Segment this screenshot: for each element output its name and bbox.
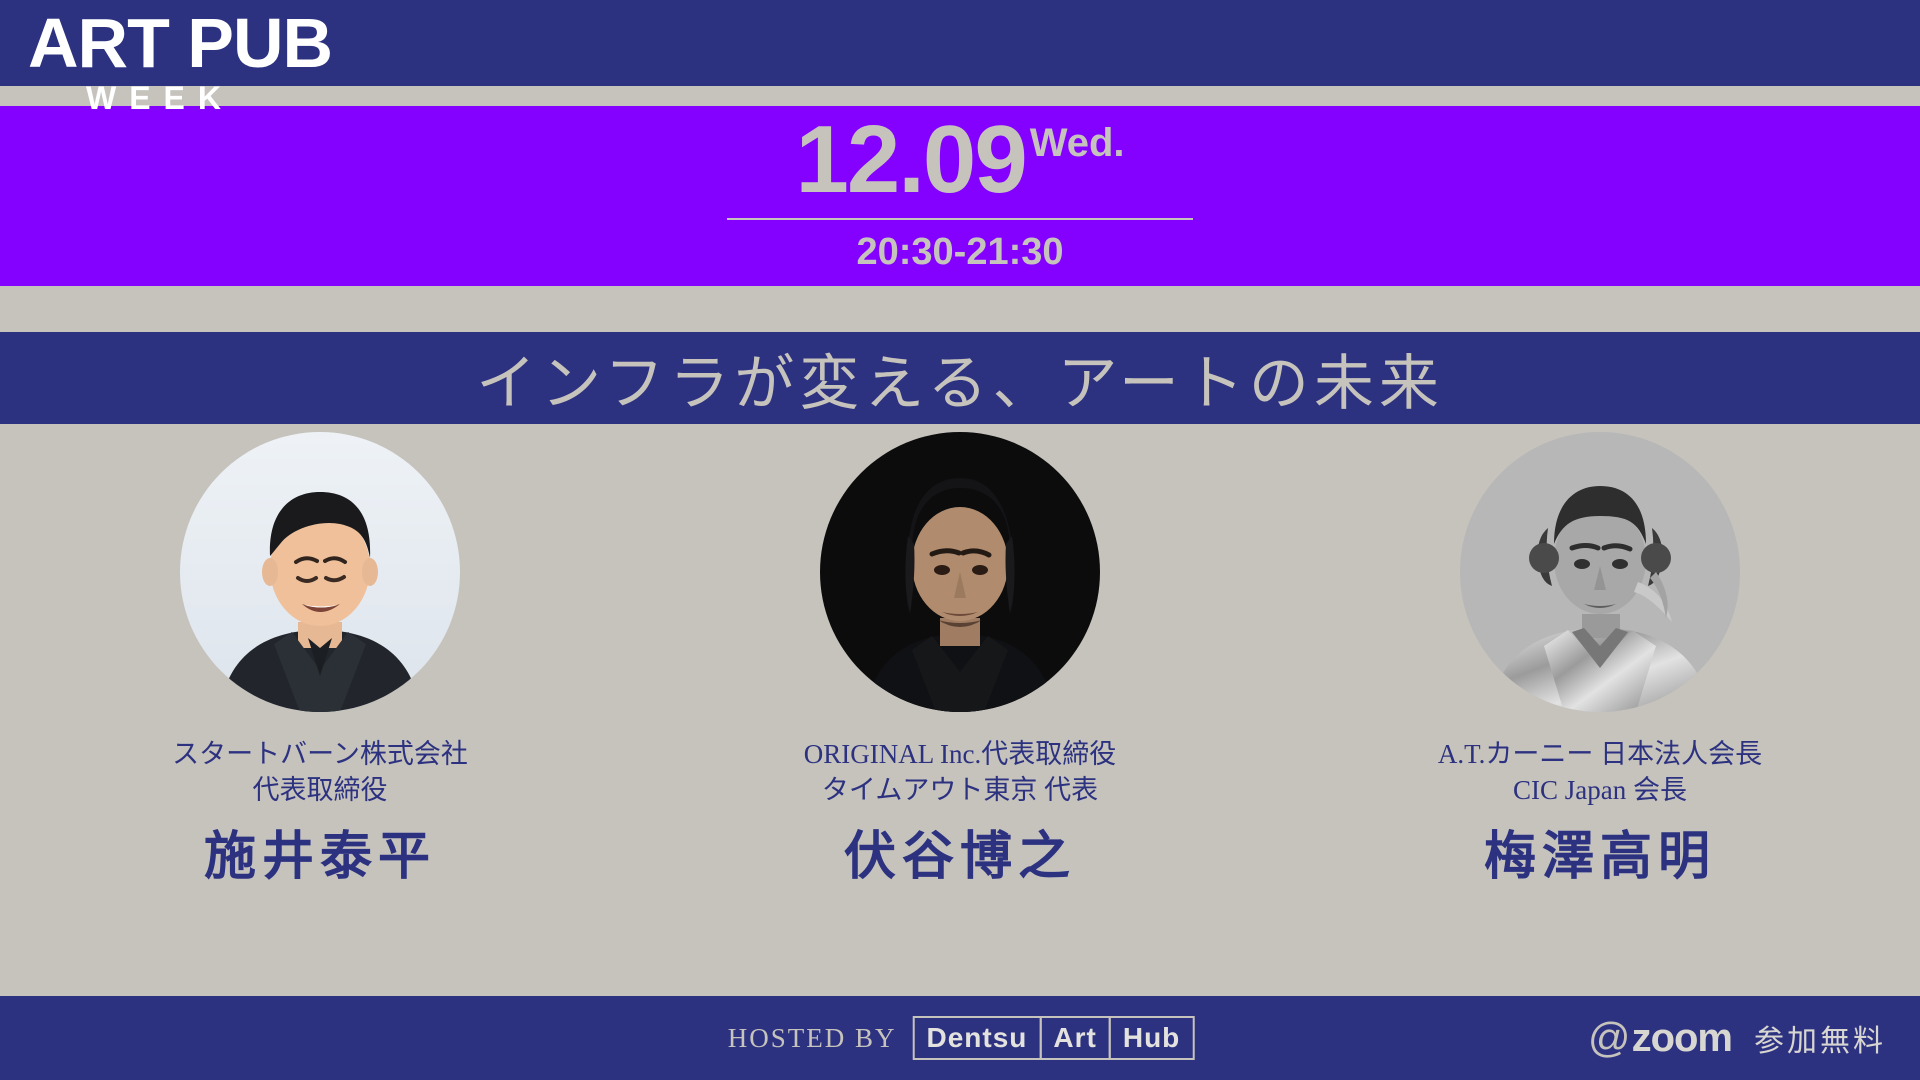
speaker-card: A.T.カーニー 日本法人会長 CIC Japan 会長 梅澤高明: [1280, 432, 1920, 992]
footer: HOSTED BY Dentsu Art Hub @ zoom 参加無料: [0, 996, 1920, 1080]
speaker-role-line2: 代表取締役: [172, 772, 468, 808]
logo-title-line: ART PUB: [28, 6, 358, 80]
free-admission-label: 参加無料: [1754, 1016, 1886, 1060]
host-logo-art: Art: [1039, 1016, 1110, 1060]
art-pub-week-logo: ART PUB WEEK: [28, 6, 358, 116]
speaker-name: 伏谷博之: [844, 828, 1076, 888]
speaker-role-line1: ORIGINAL Inc.代表取締役: [804, 736, 1116, 772]
event-date: 12.09: [795, 112, 1025, 208]
host-logo-boxes: Dentsu Art Hub: [912, 1016, 1192, 1060]
speaker-role: スタートバーン株式会社 代表取締役: [172, 736, 468, 808]
speaker-photo-umezawa-takaaki: [1460, 432, 1740, 712]
hosted-by-group: HOSTED BY Dentsu Art Hub: [728, 1016, 1193, 1060]
logo-subtitle-line: WEEK: [28, 80, 358, 116]
speaker-card: スタートバーン株式会社 代表取締役 施井泰平: [0, 432, 640, 992]
session-title: インフラが変える、アートの未来: [0, 332, 1920, 424]
speaker-card: ORIGINAL Inc.代表取締役 タイムアウト東京 代表 伏谷博之: [640, 432, 1280, 992]
speaker-role-line2: CIC Japan 会長: [1438, 772, 1762, 808]
date-divider-rule: [727, 218, 1193, 220]
speaker-role: A.T.カーニー 日本法人会長 CIC Japan 会長: [1438, 736, 1762, 808]
date-row: 12.09 Wed.: [795, 112, 1124, 208]
host-logo-hub: Hub: [1109, 1016, 1194, 1060]
event-poster: ART PUB WEEK 12.09 Wed. 20:30-21:30 インフラ…: [0, 0, 1920, 1080]
speaker-name: 施井泰平: [204, 828, 436, 888]
event-day-of-week: Wed.: [1030, 123, 1125, 163]
speaker-role-line1: スタートバーン株式会社: [172, 736, 468, 772]
hosted-by-label: HOSTED BY: [728, 1023, 897, 1054]
speakers-row: スタートバーン株式会社 代表取締役 施井泰平: [0, 432, 1920, 992]
speaker-role: ORIGINAL Inc.代表取締役 タイムアウト東京 代表: [804, 736, 1116, 808]
speaker-photo-fushitani-hiroyuki: [820, 432, 1100, 712]
event-time: 20:30-21:30: [856, 230, 1063, 274]
speaker-name: 梅澤高明: [1484, 828, 1716, 888]
speaker-photo-shiii-taihei: [180, 432, 460, 712]
speaker-role-line2: タイムアウト東京 代表: [804, 772, 1116, 808]
at-sign-icon: @: [1588, 1017, 1631, 1059]
speaker-role-line1: A.T.カーニー 日本法人会長: [1438, 736, 1762, 772]
event-date-block: 12.09 Wed. 20:30-21:30: [0, 106, 1920, 286]
zoom-logo-text: zoom: [1632, 1016, 1732, 1060]
zoom-group: @ zoom 参加無料: [1588, 1016, 1886, 1060]
host-logo-dentsu: Dentsu: [912, 1016, 1041, 1060]
gray-divider-band-middle: [0, 286, 1920, 332]
